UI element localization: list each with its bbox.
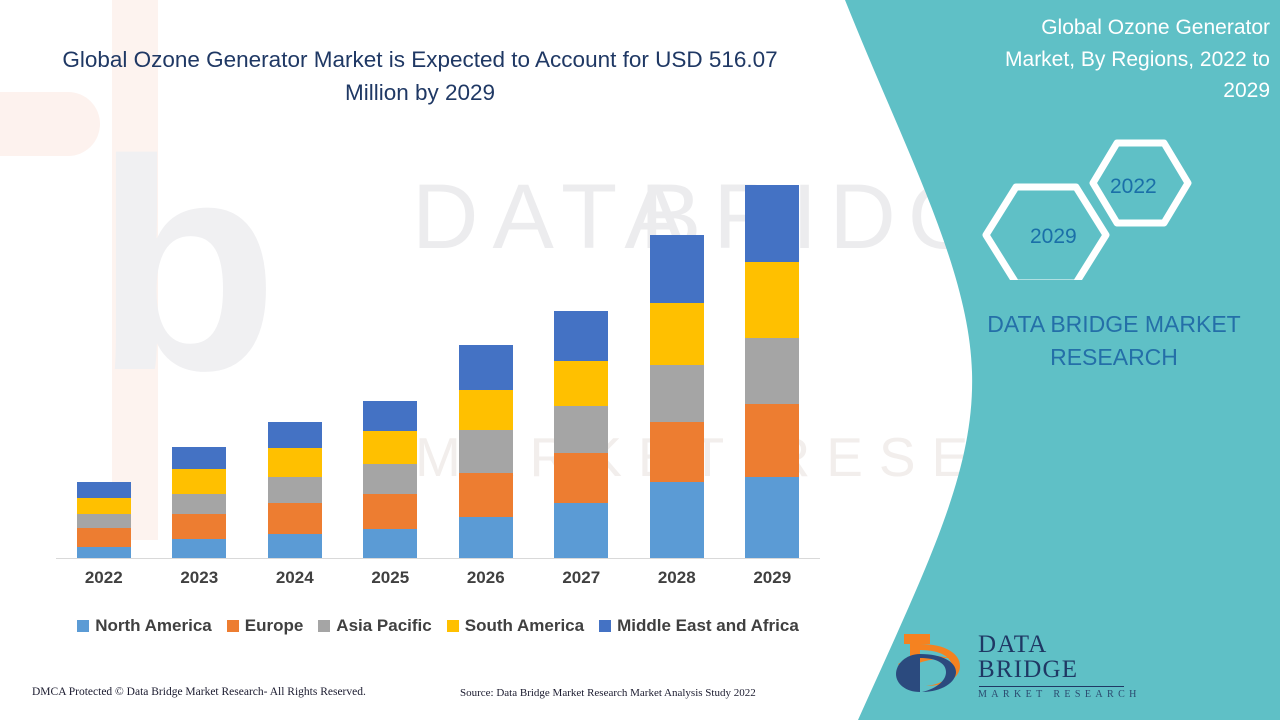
legend-swatch-icon (599, 620, 611, 632)
source-note: Source: Data Bridge Market Research Mark… (460, 687, 756, 699)
bar-segment (268, 422, 322, 448)
legend-label: South America (465, 616, 584, 636)
legend-item[interactable]: Europe (227, 616, 304, 636)
x-axis-label: 2025 (343, 568, 439, 588)
bar-segment (745, 404, 799, 477)
bar-segment (650, 482, 704, 558)
logo-mark-icon (890, 628, 976, 698)
hexagon-2022-label: 2022 (1110, 175, 1157, 199)
side-panel-content: Global Ozone Generator Market, By Region… (960, 0, 1280, 720)
bar-segment (172, 539, 226, 558)
bar-segment (268, 534, 322, 558)
bar-group-2022 (56, 150, 152, 558)
bar-segment (554, 361, 608, 406)
bar-group-2023 (152, 150, 248, 558)
legend-label: Middle East and Africa (617, 616, 799, 636)
bar-segment (77, 514, 131, 528)
legend-item[interactable]: Middle East and Africa (599, 616, 799, 636)
bar-group-2028 (629, 150, 725, 558)
copyright-notice: DMCA Protected © Data Bridge Market Rese… (32, 686, 366, 698)
bar-segment (459, 430, 513, 473)
bar-segment (77, 528, 131, 547)
legend-label: North America (95, 616, 212, 636)
stacked-bar (459, 345, 513, 558)
bar-segment (363, 431, 417, 464)
x-axis-line (56, 558, 820, 559)
x-axis-label: 2027 (534, 568, 630, 588)
bar-segment (459, 473, 513, 517)
bar-group-2027 (534, 150, 630, 558)
bar-segment (172, 514, 226, 539)
x-axis-labels: 20222023202420252026202720282029 (56, 568, 820, 588)
company-logo: DATA BRIDGE MARKET RESEARCH (890, 628, 1150, 698)
legend-swatch-icon (227, 620, 239, 632)
brand-name: DATA BRIDGE MARKET RESEARCH (960, 308, 1268, 375)
legend-swatch-icon (318, 620, 330, 632)
bar-segment (268, 477, 322, 503)
bar-segment (745, 338, 799, 404)
bar-segment (77, 547, 131, 558)
bar-segment (77, 498, 131, 514)
chart-legend: North AmericaEuropeAsia PacificSouth Ame… (56, 616, 820, 636)
x-axis-label: 2022 (56, 568, 152, 588)
x-axis-label: 2023 (152, 568, 248, 588)
bar-group-2025 (343, 150, 439, 558)
bar-segment (650, 422, 704, 482)
legend-item[interactable]: North America (77, 616, 212, 636)
hexagon-group: 2022 2029 (974, 135, 1274, 280)
x-axis-label: 2029 (725, 568, 821, 588)
legend-label: Europe (245, 616, 304, 636)
stacked-bar (554, 311, 608, 558)
logo-main-text: DATA BRIDGE (978, 632, 1150, 682)
bar-segment (172, 469, 226, 494)
bar-segment (459, 345, 513, 390)
bar-segment (650, 303, 704, 365)
stacked-bar (172, 447, 226, 558)
bar-segment (363, 529, 417, 558)
stacked-bar (268, 422, 322, 558)
logo-divider (979, 686, 1124, 687)
bar-segment (172, 494, 226, 514)
bar-segment (650, 235, 704, 303)
side-panel-title: Global Ozone Generator Market, By Region… (970, 12, 1270, 107)
legend-swatch-icon (77, 620, 89, 632)
legend-label: Asia Pacific (336, 616, 431, 636)
legend-item[interactable]: South America (447, 616, 584, 636)
bar-segment (77, 482, 131, 498)
bar-segment (268, 448, 322, 477)
bar-segment (363, 401, 417, 431)
stacked-bar (363, 401, 417, 558)
bar-group-2026 (438, 150, 534, 558)
bar-group-2024 (247, 150, 343, 558)
bar-segment (459, 390, 513, 430)
bar-segment (745, 477, 799, 558)
x-axis-label: 2028 (629, 568, 725, 588)
bar-segment (363, 464, 417, 494)
bar-segment (745, 185, 799, 262)
bar-segment (268, 503, 322, 534)
logo-wordmark: DATA BRIDGE MARKET RESEARCH (978, 632, 1150, 700)
bar-segment (459, 517, 513, 558)
x-axis-label: 2024 (247, 568, 343, 588)
bar-segment (554, 406, 608, 453)
stacked-bar (650, 235, 704, 558)
stacked-bar-chart (56, 150, 820, 558)
x-axis-label: 2026 (438, 568, 534, 588)
bar-segment (745, 262, 799, 338)
hexagon-2029-label: 2029 (1030, 225, 1077, 249)
bar-segment (554, 453, 608, 503)
bar-segment (172, 447, 226, 469)
stacked-bar (77, 482, 131, 558)
logo-sub-text: MARKET RESEARCH (978, 690, 1150, 700)
bar-segment (554, 311, 608, 361)
page-title: Global Ozone Generator Market is Expecte… (40, 44, 800, 109)
bar-segment (650, 365, 704, 422)
bar-segment (363, 494, 417, 529)
legend-swatch-icon (447, 620, 459, 632)
legend-item[interactable]: Asia Pacific (318, 616, 431, 636)
bar-group-2029 (725, 150, 821, 558)
infographic-canvas: b DATA BRIDGE MARKET RESEARCH Global Ozo… (0, 0, 1280, 720)
hexagon-svg (974, 135, 1274, 280)
bar-segment (554, 503, 608, 558)
stacked-bar (745, 185, 799, 558)
